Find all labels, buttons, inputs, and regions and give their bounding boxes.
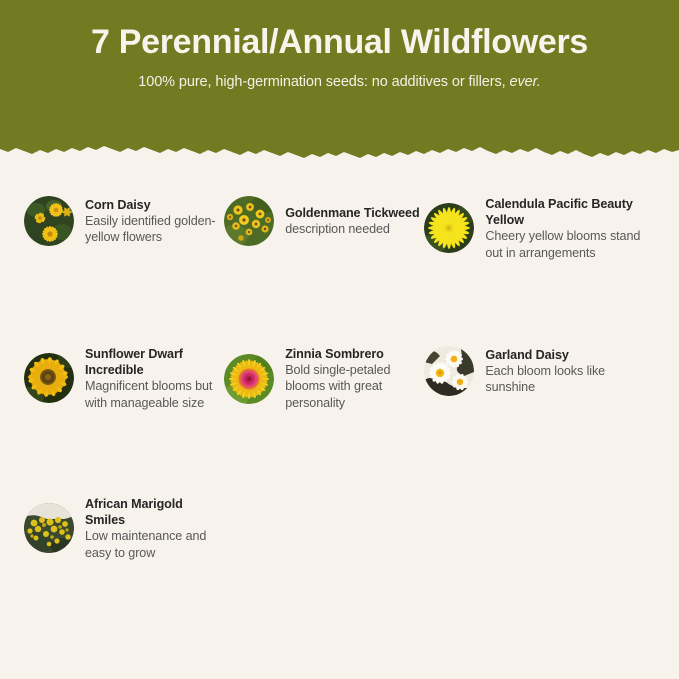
flower-name: Goldenmane Tickweed <box>285 205 419 221</box>
flower-name: Corn Daisy <box>85 197 224 213</box>
flower-name: Garland Daisy <box>485 347 655 363</box>
corn-daisy-photo-icon <box>24 196 74 246</box>
flower-name: Zinnia Sombrero <box>285 346 424 362</box>
flower-item-goldenmane-tickweed[interactable]: Goldenmane Tickweed description needed <box>224 196 424 246</box>
flower-text: Sunflower Dwarf Incredible Magnificent b… <box>85 346 224 411</box>
flower-description: Magnificent blooms but with manageable s… <box>85 378 224 411</box>
garland-daisy-photo-icon <box>424 346 474 396</box>
flower-text: African Marigold Smiles Low maintenance … <box>85 496 224 561</box>
zinnia-sombrero-photo-icon <box>224 354 274 404</box>
flower-item-zinnia-sombrero[interactable]: Zinnia Sombrero Bold single-petaled bloo… <box>224 346 424 411</box>
flower-text: Zinnia Sombrero Bold single-petaled bloo… <box>285 346 424 411</box>
subtitle-emphasis: ever. <box>510 74 541 90</box>
flower-text: Garland Daisy Each bloom looks like suns… <box>485 347 655 396</box>
flower-text: Calendula Pacific Beauty Yellow Cheery y… <box>485 196 655 261</box>
calendula-pacific-beauty-yellow-photo-icon <box>424 203 474 253</box>
flower-item-corn-daisy[interactable]: Corn Daisy Easily identified golden-yell… <box>24 196 224 246</box>
flower-row: Sunflower Dwarf Incredible Magnificent b… <box>24 346 655 496</box>
subtitle-main: 100% pure, high-germination seeds: no ad… <box>138 74 505 90</box>
flower-description: Each bloom looks like sunshine <box>485 363 655 396</box>
flower-item-sunflower-dwarf-incredible[interactable]: Sunflower Dwarf Incredible Magnificent b… <box>24 346 224 411</box>
sunflower-dwarf-incredible-photo-icon <box>24 353 74 403</box>
flower-item-african-marigold-smiles[interactable]: African Marigold Smiles Low maintenance … <box>24 496 224 561</box>
flower-list: Corn Daisy Easily identified golden-yell… <box>0 196 679 646</box>
flower-name: African Marigold Smiles <box>85 496 224 528</box>
header-banner: 7 Perennial/Annual Wildflowers 100% pure… <box>0 0 679 160</box>
flower-name: Calendula Pacific Beauty Yellow <box>485 196 655 228</box>
african-marigold-smiles-photo-icon <box>24 503 74 553</box>
flower-name: Sunflower Dwarf Incredible <box>85 346 224 378</box>
header-text-block: 7 Perennial/Annual Wildflowers 100% pure… <box>0 0 679 150</box>
flower-text: Goldenmane Tickweed description needed <box>285 205 419 237</box>
flower-description: Bold single-petaled blooms with great pe… <box>285 362 424 411</box>
flower-description: description needed <box>285 221 419 237</box>
flower-row: Corn Daisy Easily identified golden-yell… <box>24 196 655 346</box>
goldenmane-tickweed-photo-icon <box>224 196 274 246</box>
flower-item-calendula-pacific-beauty-yellow[interactable]: Calendula Pacific Beauty Yellow Cheery y… <box>424 196 655 261</box>
flower-description: Easily identified golden-yellow flowers <box>85 213 224 246</box>
page-subtitle: 100% pure, high-germination seeds: no ad… <box>138 74 540 90</box>
flower-description: Low maintenance and easy to grow <box>85 528 224 561</box>
flower-item-garland-daisy[interactable]: Garland Daisy Each bloom looks like suns… <box>424 346 655 396</box>
flower-description: Cheery yellow blooms stand out in arrang… <box>485 228 655 261</box>
flower-text: Corn Daisy Easily identified golden-yell… <box>85 197 224 246</box>
flower-row: African Marigold Smiles Low maintenance … <box>24 496 655 646</box>
page-title: 7 Perennial/Annual Wildflowers <box>91 22 588 62</box>
